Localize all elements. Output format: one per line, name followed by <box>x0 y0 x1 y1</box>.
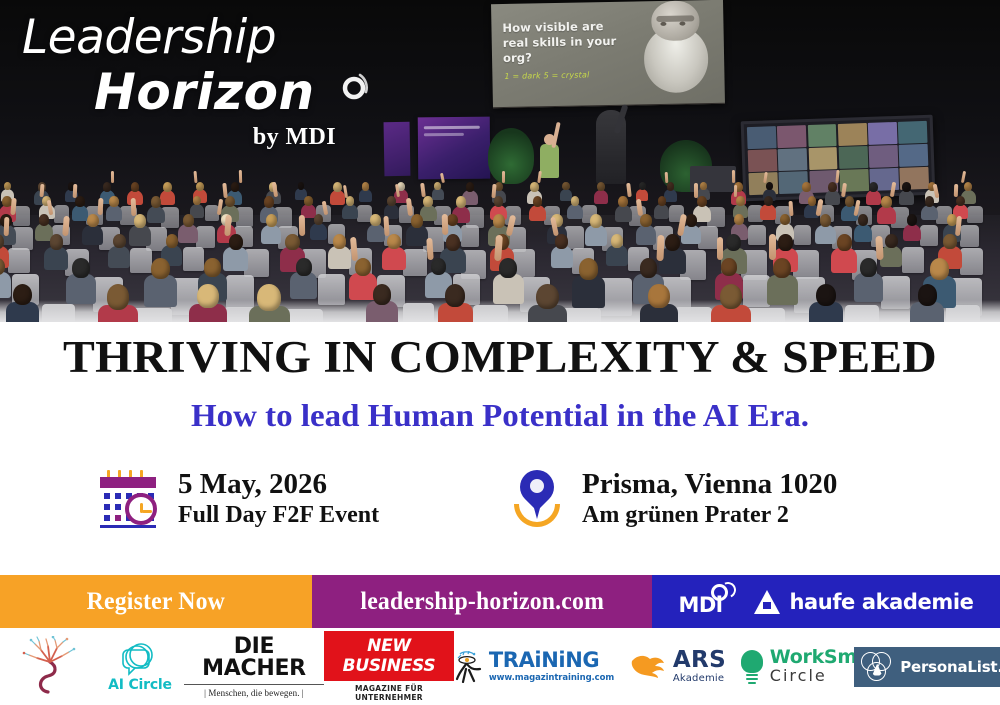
cta-bar: Register Now leadership-horizon.com MDi … <box>0 575 1000 628</box>
new-business-label: NEW BUSINESS <box>343 636 436 676</box>
event-details: 5 May, 2026 Full Day F2F Event Prisma, V… <box>0 462 1000 552</box>
chair <box>403 249 427 276</box>
raised-hand <box>350 236 358 260</box>
partner-logo-strip: AI Circle DIE MACHER | Menschen, die bew… <box>0 628 1000 705</box>
brand-lockup: Leadership Horizon by MDI <box>22 14 422 164</box>
event-date-block: 5 May, 2026 Full Day F2F Event <box>96 466 379 532</box>
raised-hand <box>953 184 957 197</box>
training-label: TRAiNiNG <box>489 650 614 671</box>
ars-sublabel: Akademie <box>673 673 726 684</box>
haufe-triangle-icon <box>754 590 780 614</box>
page-title: THRIVING IN COMPLEXITY & SPEED <box>0 331 1000 383</box>
partner-training: TRAiNiNG www.magazintraining.com <box>454 634 614 700</box>
raised-hand <box>717 237 723 260</box>
hero-photo: How visible are real skills in your org?… <box>0 0 1000 322</box>
event-location-block: Prisma, Vienna 1020 Am grünen Prater 2 <box>508 466 837 532</box>
chair <box>794 225 811 245</box>
raised-hand <box>222 183 227 198</box>
audience <box>0 150 1000 322</box>
chair <box>698 226 718 249</box>
ars-label: ARS <box>673 649 726 672</box>
calendar-clock-icon <box>96 466 162 532</box>
register-now-button[interactable]: Register Now <box>0 575 312 628</box>
website-label: leadership-horizon.com <box>360 588 604 616</box>
raised-hand <box>131 198 137 216</box>
raised-hand <box>502 171 505 183</box>
partner-ars-akademie: ARS Akademie <box>614 634 742 700</box>
event-poster: How visible are real skills in your org?… <box>0 0 1000 705</box>
event-format: Full Day F2F Event <box>178 501 379 530</box>
raised-hand <box>62 215 69 236</box>
raised-hand <box>299 215 305 236</box>
register-now-label: Register Now <box>87 588 225 616</box>
venn-drop-icon <box>861 652 893 682</box>
raised-hand <box>890 182 897 198</box>
brand-line-leadership: Leadership <box>22 14 422 61</box>
brand-byline: by MDI <box>22 124 336 151</box>
mdi-swoosh-icon <box>338 70 378 106</box>
chair <box>960 248 983 275</box>
raised-hand <box>383 216 390 236</box>
website-link[interactable]: leadership-horizon.com <box>312 575 652 628</box>
chair <box>130 248 152 274</box>
die-macher-tagline: | Menschen, die bewegen. | <box>184 684 324 698</box>
raised-hand <box>440 173 445 183</box>
training-url: www.magazintraining.com <box>489 673 614 683</box>
raised-hand <box>841 183 847 197</box>
event-venue: Prisma, Vienna 1020 <box>582 468 837 500</box>
new-business-tagline: MAGAZINE FÜR UNTERNEHMER <box>324 684 454 702</box>
raised-hand <box>194 171 198 183</box>
chair <box>461 225 480 247</box>
ars-bird-icon <box>630 652 666 682</box>
projection-slide: How visible are real skills in your org?… <box>491 0 725 108</box>
partner-die-macher: DIE MACHER | Menschen, die bewegen. | <box>184 634 324 700</box>
raised-hand <box>627 183 633 198</box>
raised-hand <box>537 170 542 183</box>
partner-tree-logo <box>0 634 96 700</box>
chair <box>920 225 938 246</box>
chair <box>196 226 215 248</box>
raised-hand <box>835 170 840 183</box>
raised-hand <box>491 183 496 197</box>
personalist-label: PersonaList.at <box>900 658 1000 676</box>
raised-hand <box>272 182 278 198</box>
partner-personalist: PersonaList.at <box>884 634 1000 700</box>
lightbulb-icon <box>739 650 765 684</box>
chair <box>183 247 204 271</box>
ai-circle-label: AI Circle <box>108 677 172 693</box>
chair <box>902 247 924 272</box>
raised-hand <box>875 236 883 261</box>
chair <box>748 225 765 245</box>
chair <box>960 225 978 246</box>
raised-hand <box>789 200 794 215</box>
raised-hand <box>239 170 243 183</box>
event-address: Am grünen Prater 2 <box>582 501 837 530</box>
raised-hand <box>769 234 776 260</box>
raised-hand <box>442 214 448 236</box>
raised-hand <box>732 170 736 183</box>
raised-hand <box>694 183 698 198</box>
darwin-portrait-icon <box>635 0 719 101</box>
haufe-akademie-logo: haufe akademie <box>754 590 973 614</box>
organizer-logos: MDi haufe akademie <box>652 575 1000 628</box>
raised-hand <box>97 198 103 216</box>
map-pin-icon <box>508 466 566 532</box>
page-subtitle: How to lead Human Potential in the AI Er… <box>0 397 1000 434</box>
ai-circle-icon <box>120 640 160 676</box>
raised-hand <box>664 172 668 183</box>
die-macher-label: DIE MACHER <box>184 636 324 680</box>
chair <box>967 206 982 224</box>
haufe-wordmark: haufe akademie <box>789 590 973 614</box>
chair <box>8 248 30 274</box>
tree-icon <box>17 636 79 698</box>
raised-hand <box>3 217 9 236</box>
raised-hand <box>111 171 115 184</box>
partner-new-business: NEW BUSINESS MAGAZINE FÜR UNTERNEHMER <box>324 634 454 700</box>
raised-hand <box>72 183 76 197</box>
raised-hand <box>656 234 664 260</box>
mdi-logo: MDi <box>678 585 740 619</box>
slide-scale-legend: 1 = dark 5 = crystal <box>504 70 589 81</box>
slide-question: How visible are real skills in your org? <box>502 19 633 67</box>
training-figure-icon <box>454 651 484 683</box>
partner-ai-circle: AI Circle <box>96 634 184 700</box>
event-date: 5 May, 2026 <box>178 468 379 500</box>
raised-hand <box>420 183 426 197</box>
